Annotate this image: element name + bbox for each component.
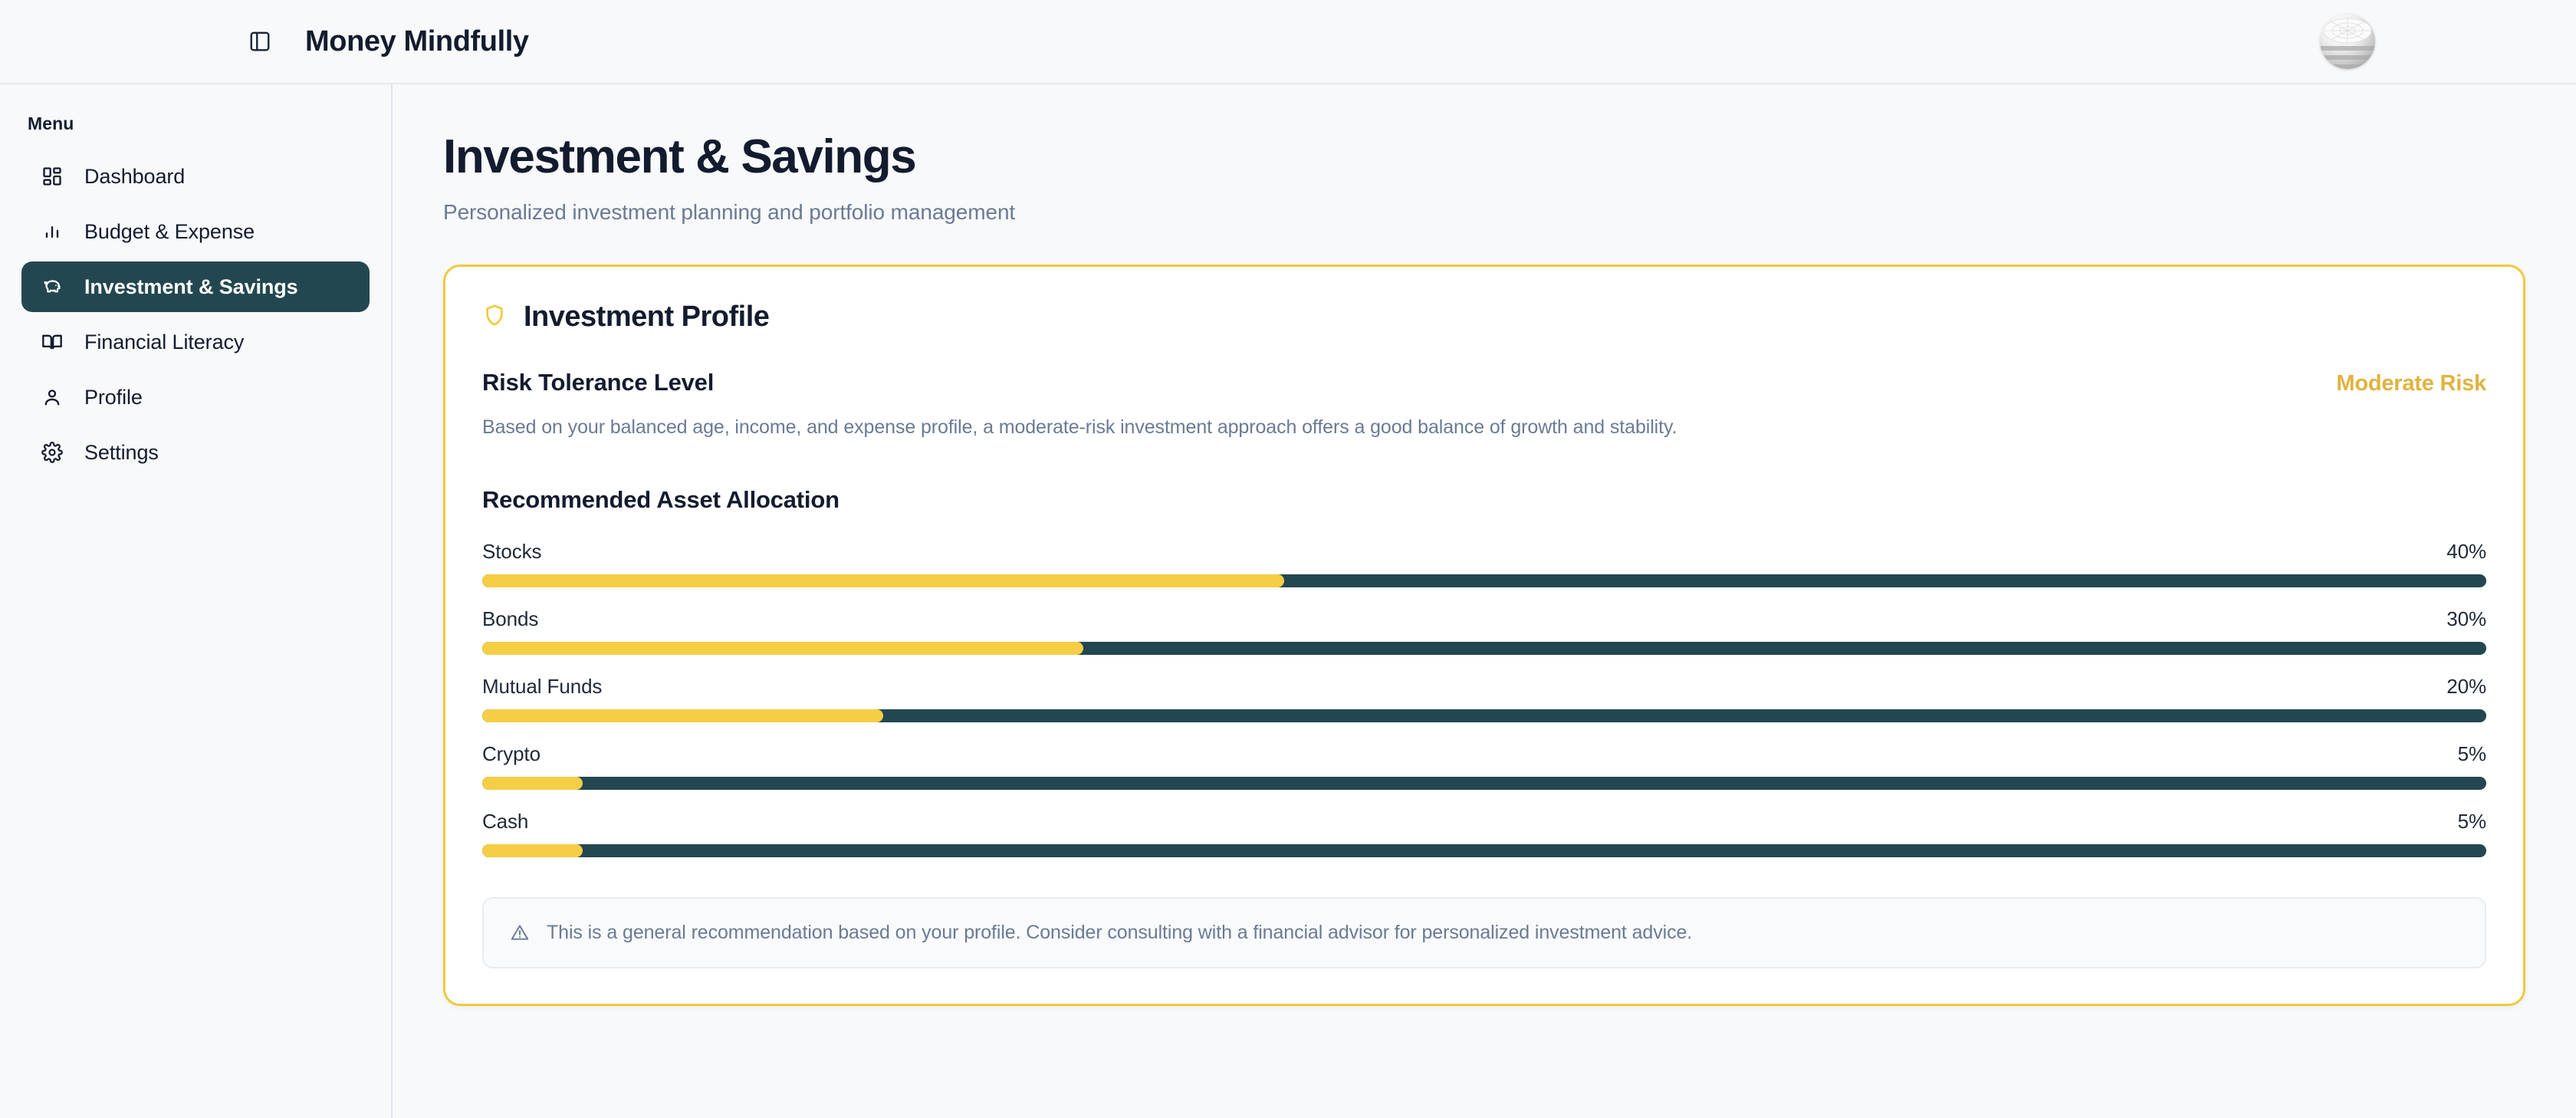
sidebar-item-label: Profile (84, 386, 143, 409)
allocation-percent: 30% (2446, 607, 2486, 631)
sidebar-item-settings[interactable]: Settings (21, 427, 370, 478)
piggy-bank-icon (40, 275, 64, 299)
sidebar-item-label: Settings (84, 441, 159, 465)
book-open-icon (40, 330, 64, 354)
allocation-label: Bonds (482, 607, 538, 631)
allocation-label: Crypto (482, 742, 540, 766)
menu-section-label: Menu (21, 113, 370, 151)
sidebar-item-label: Investment & Savings (84, 275, 298, 299)
allocation-row-mutual-funds: Mutual Funds 20% (482, 675, 2486, 722)
allocation-label: Stocks (482, 540, 541, 564)
app-shell: Menu Dashboard Budget & Expense (0, 84, 2576, 1118)
allocation-row-stocks: Stocks 40% (482, 540, 2486, 587)
top-bar-left: Money Mindfully (0, 25, 529, 58)
allocation-percent: 5% (2458, 810, 2486, 834)
allocation-progress-track (482, 844, 2486, 857)
allocation-percent: 5% (2458, 742, 2486, 766)
allocation-progress-track (482, 574, 2486, 587)
disclaimer-text: This is a general recommendation based o… (547, 922, 1692, 944)
allocation-row-bonds: Bonds 30% (482, 607, 2486, 655)
sidebar-item-label: Budget & Expense (84, 220, 255, 244)
allocation-heading: Recommended Asset Allocation (482, 486, 2486, 514)
allocation-progress-fill (482, 777, 583, 790)
allocation-progress-fill (482, 642, 1083, 655)
disclaimer-notice: This is a general recommendation based o… (482, 897, 2486, 968)
sidebar-item-profile[interactable]: Profile (21, 372, 370, 423)
allocation-percent: 20% (2446, 675, 2486, 699)
sidebar-item-dashboard[interactable]: Dashboard (21, 151, 370, 202)
allocation-list: Stocks 40% Bonds 30% (482, 540, 2486, 857)
card-header: Investment Profile (482, 301, 2486, 334)
bar-chart-icon (40, 219, 64, 244)
sidebar-item-investment-savings[interactable]: Investment & Savings (21, 261, 370, 312)
panel-left-icon[interactable] (244, 25, 276, 58)
sidebar-item-financial-literacy[interactable]: Financial Literacy (21, 317, 370, 367)
allocation-label: Mutual Funds (482, 675, 602, 699)
layout-grid-icon (40, 164, 64, 189)
gear-icon (40, 440, 64, 465)
status-badge: Moderate Risk (2336, 371, 2486, 396)
allocation-progress-fill (482, 844, 583, 857)
page-title: Investment & Savings (443, 132, 2525, 183)
main-content: Investment & Savings Personalized invest… (393, 84, 2576, 1118)
brand-title: Money Mindfully (305, 25, 529, 58)
sidebar: Menu Dashboard Budget & Expense (0, 84, 393, 1118)
user-icon (40, 385, 64, 409)
allocation-percent: 40% (2446, 540, 2486, 564)
allocation-progress-fill (482, 574, 1284, 587)
top-bar: Money Mindfully (0, 0, 2576, 84)
allocation-progress-fill (482, 709, 883, 722)
sidebar-item-label: Dashboard (84, 165, 185, 189)
shield-icon (482, 303, 507, 331)
allocation-progress-track (482, 642, 2486, 655)
allocation-progress-track (482, 709, 2486, 722)
avatar[interactable] (2320, 14, 2375, 69)
allocation-label: Cash (482, 810, 528, 834)
card-title: Investment Profile (524, 301, 769, 334)
allocation-row-cash: Cash 5% (482, 810, 2486, 857)
risk-tolerance-heading: Risk Tolerance Level (482, 369, 714, 396)
risk-tolerance-row: Risk Tolerance Level Moderate Risk (482, 369, 2486, 396)
sidebar-item-label: Financial Literacy (84, 330, 244, 354)
investment-profile-card: Investment Profile Risk Tolerance Level … (443, 265, 2525, 1006)
alert-triangle-icon (510, 922, 531, 942)
sidebar-item-budget-expense[interactable]: Budget & Expense (21, 206, 370, 257)
page-subtitle: Personalized investment planning and por… (443, 200, 2525, 225)
allocation-progress-track (482, 777, 2486, 790)
risk-description: Based on your balanced age, income, and … (482, 416, 2486, 439)
allocation-row-crypto: Crypto 5% (482, 742, 2486, 790)
